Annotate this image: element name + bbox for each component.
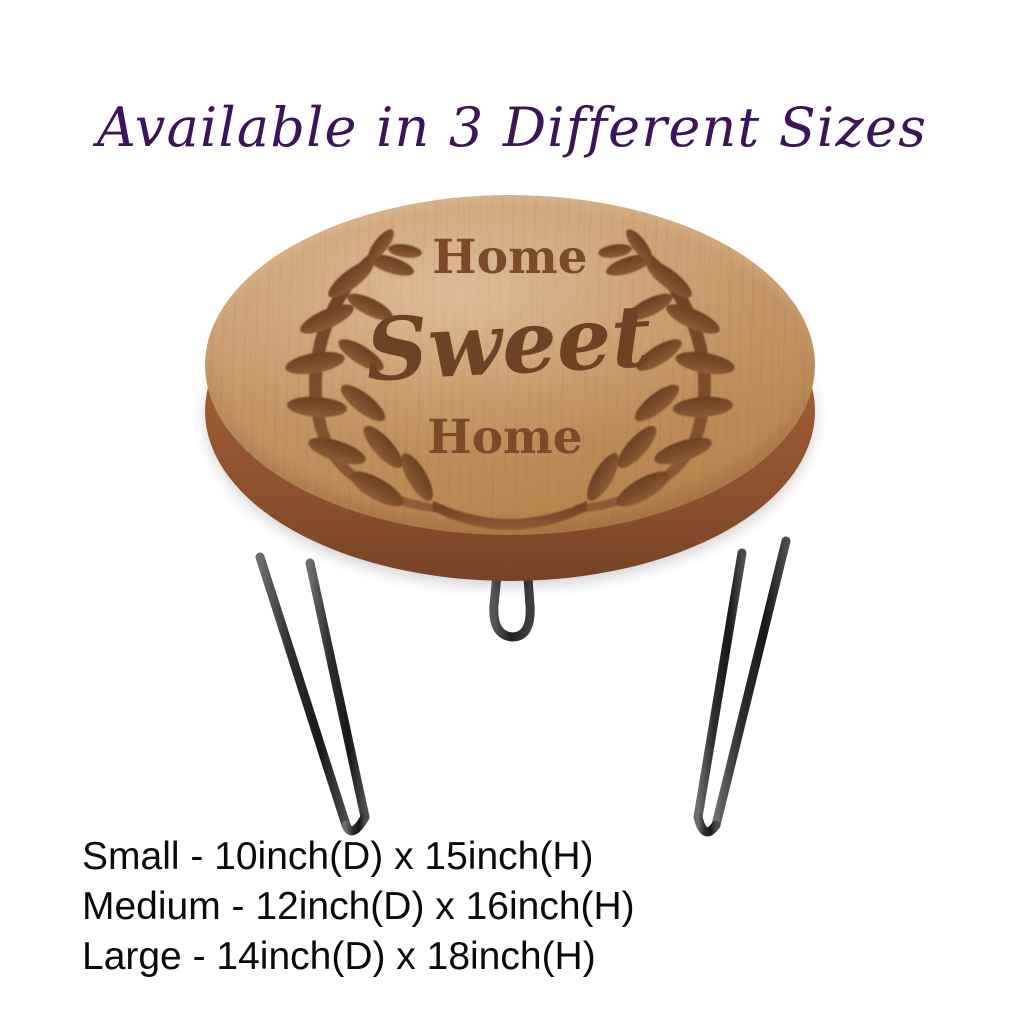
product-image-canvas: Available in 3 Different Sizes [0,0,1024,1024]
size-option-large: Large - 14inch(D) x 18inch(H) [82,932,802,982]
page-title: Available in 3 Different Sizes [0,96,1024,159]
size-options-list: Small - 10inch(D) x 15inch(H) Medium - 1… [82,832,802,982]
engraved-design: Home Sweet Home [205,195,815,535]
table-top-surface: Home Sweet Home [205,195,815,535]
front-left-hairpin-leg [260,557,365,831]
size-option-small: Small - 10inch(D) x 15inch(H) [82,832,802,882]
engraved-line-middle: Sweet [363,286,653,402]
size-option-medium: Medium - 12inch(D) x 16inch(H) [82,882,802,932]
table-top: Home Sweet Home [205,195,815,585]
product-photo: Home Sweet Home [150,185,880,845]
engraved-line-bottom: Home [427,410,582,465]
engraved-line-top: Home [432,230,587,285]
